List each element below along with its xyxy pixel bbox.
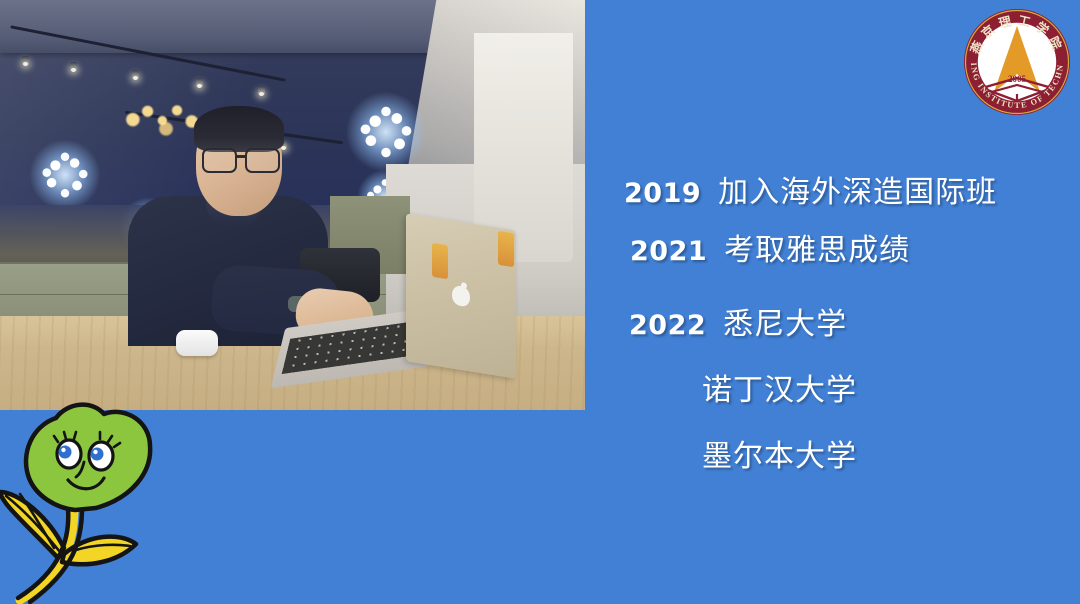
- snowflake-light: [28, 138, 102, 212]
- spot-light: [196, 78, 203, 87]
- spot-light: [258, 86, 265, 95]
- timeline-text: 考取雅思成绩: [724, 236, 910, 266]
- spot-light: [22, 56, 29, 65]
- eyeglasses: [202, 148, 280, 170]
- computer-mouse: [176, 330, 218, 356]
- timeline-year: 2019: [624, 180, 701, 207]
- eyeglass-lens-right: [245, 148, 280, 173]
- logo-year: 2005: [1008, 74, 1027, 84]
- smiling-flower-mascot: [0, 392, 186, 604]
- timeline-row-melbourne: 墨尔本大学: [612, 442, 1032, 472]
- timeline-row-2021: 2021 考取雅思成绩: [612, 236, 1032, 266]
- timeline-row-nottingham: 诺丁汉大学: [612, 376, 1032, 406]
- laptop-sticker-right: [498, 231, 514, 268]
- timeline-text: 加入海外深造国际班: [718, 178, 997, 208]
- laptop-sticker-left: [432, 243, 448, 280]
- snowflake-light: [344, 90, 428, 174]
- spot-light: [70, 62, 77, 71]
- spot-light: [132, 70, 139, 79]
- timeline-text: 悉尼大学: [723, 310, 847, 340]
- slide-canvas: 2019 加入海外深造国际班 2021 考取雅思成绩 2022 悉尼大学 诺丁汉…: [0, 0, 1080, 604]
- timeline-list: 2019 加入海外深造国际班 2021 考取雅思成绩 2022 悉尼大学 诺丁汉…: [612, 178, 1032, 472]
- eyeglass-lens-left: [202, 148, 237, 173]
- person-hair: [194, 106, 284, 152]
- yanching-institute-of-technology-logo: 2005 燕京理工学院 YANCHING INSTITUTE OF TECHNO…: [962, 4, 1072, 120]
- timeline-text: 墨尔本大学: [702, 442, 857, 472]
- timeline-row-2022: 2022 悉尼大学: [612, 310, 1032, 340]
- student-studying-photo: [0, 0, 585, 410]
- timeline-row-2019: 2019 加入海外深造国际班: [612, 178, 1032, 208]
- timeline-year: 2021: [630, 238, 707, 265]
- timeline-text: 诺丁汉大学: [702, 376, 857, 406]
- timeline-year: 2022: [629, 312, 706, 339]
